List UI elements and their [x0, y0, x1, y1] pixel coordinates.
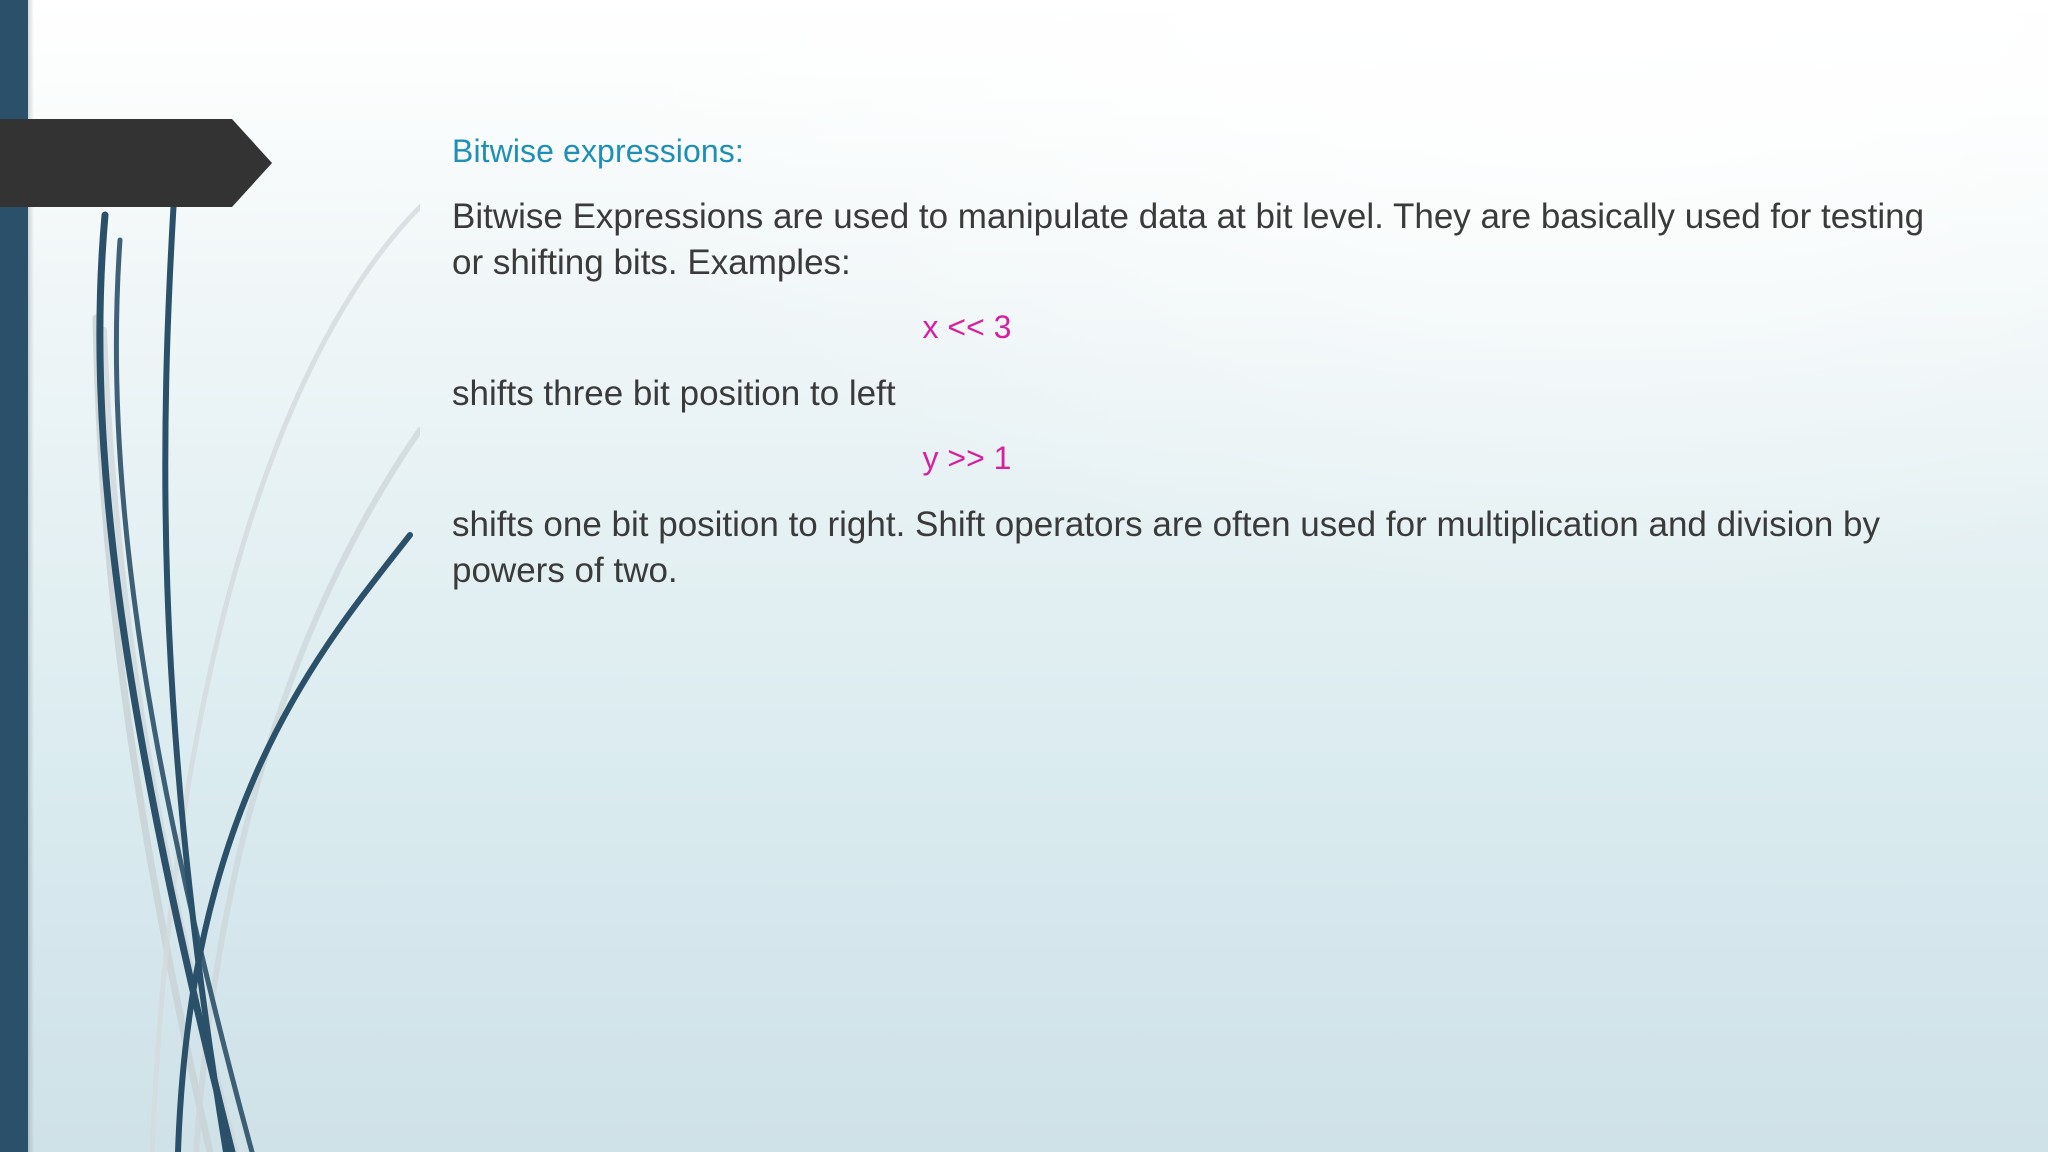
- arrow-banner-shape: [0, 119, 272, 207]
- decorative-reed-curves: [0, 0, 420, 1152]
- left-accent-band-shadow: [28, 0, 34, 1152]
- code-example-shift-right: y >> 1: [452, 438, 1952, 480]
- intro-paragraph: Bitwise Expressions are used to manipula…: [452, 194, 1942, 285]
- caption-shift-left: shifts three bit position to left: [452, 371, 1942, 417]
- slide-content: Bitwise expressions: Bitwise Expressions…: [452, 132, 1952, 593]
- presentation-slide: Bitwise expressions: Bitwise Expressions…: [0, 0, 2048, 1152]
- code-example-shift-left: x << 3: [452, 307, 1952, 349]
- page-title: Bitwise expressions:: [452, 132, 1952, 170]
- caption-shift-right: shifts one bit position to right. Shift …: [452, 502, 1942, 593]
- left-accent-band: [0, 0, 28, 1152]
